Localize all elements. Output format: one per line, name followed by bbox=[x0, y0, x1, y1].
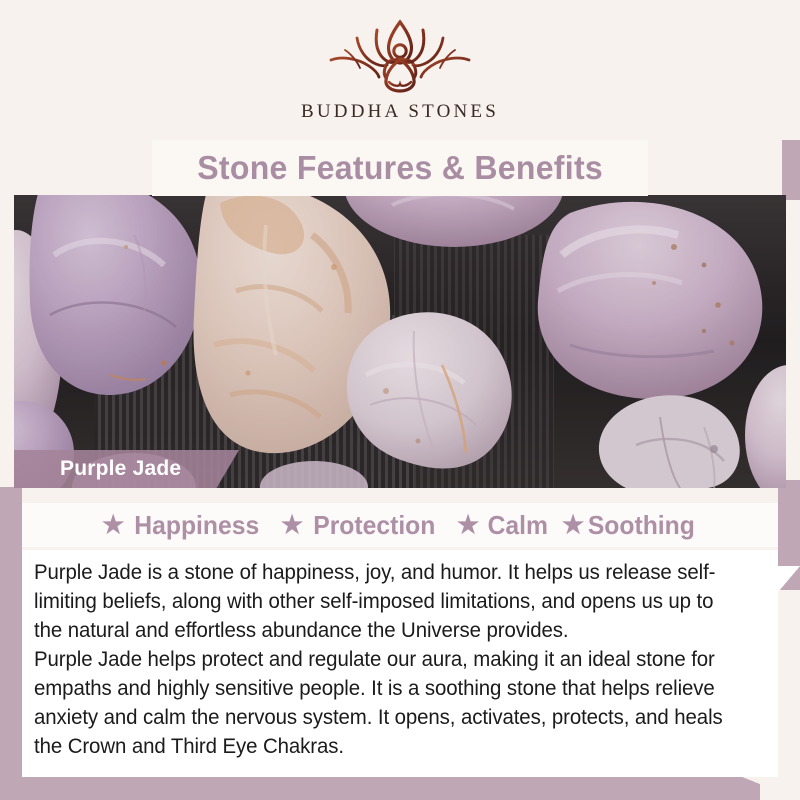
title-banner: Stone Features & Benefits bbox=[152, 140, 648, 196]
star-icon: ★ bbox=[102, 513, 124, 538]
star-icon: ★ bbox=[281, 513, 303, 538]
benefit-protection: ★ Protection bbox=[281, 510, 439, 541]
frame-bottom-notch bbox=[740, 776, 800, 800]
description-paragraph-1: Purple Jade is a stone of happiness, joy… bbox=[34, 558, 729, 645]
star-icon: ★ bbox=[457, 513, 479, 538]
star-icon: ★ bbox=[562, 513, 584, 538]
frame-left-bar bbox=[0, 487, 22, 777]
benefit-soothing: ★ Soothing bbox=[562, 510, 698, 541]
benefit-label: Protection bbox=[314, 510, 436, 541]
benefit-label: Calm bbox=[488, 510, 548, 541]
stone-photo bbox=[14, 195, 786, 488]
brand-name: BUDDHA STONES bbox=[301, 101, 499, 123]
benefit-happiness: ★ Happiness bbox=[102, 510, 263, 541]
frame-bottom-bar bbox=[0, 776, 760, 800]
brand-header: BUDDHA STONES bbox=[0, 0, 800, 140]
page-title: Stone Features & Benefits bbox=[197, 149, 603, 187]
lotus-meditation-figure-icon bbox=[315, 16, 485, 98]
benefits-row: ★ Happiness ★ Protection ★ Calm ★ Soothi… bbox=[22, 503, 778, 547]
stone-name-label: Purple Jade bbox=[60, 457, 181, 481]
benefit-label: Soothing bbox=[588, 510, 695, 541]
stone-info-card: BUDDHA STONES Stone Features & Benefits bbox=[0, 0, 800, 800]
description-panel: Purple Jade is a stone of happiness, joy… bbox=[22, 550, 778, 777]
stone-name-tab: Purple Jade bbox=[14, 450, 239, 488]
benefit-label: Happiness bbox=[135, 510, 260, 541]
benefit-calm: ★ Calm bbox=[457, 510, 550, 541]
frame-right-mid-notch bbox=[778, 566, 800, 592]
description-paragraph-2: Purple Jade helps protect and regulate o… bbox=[34, 645, 729, 761]
